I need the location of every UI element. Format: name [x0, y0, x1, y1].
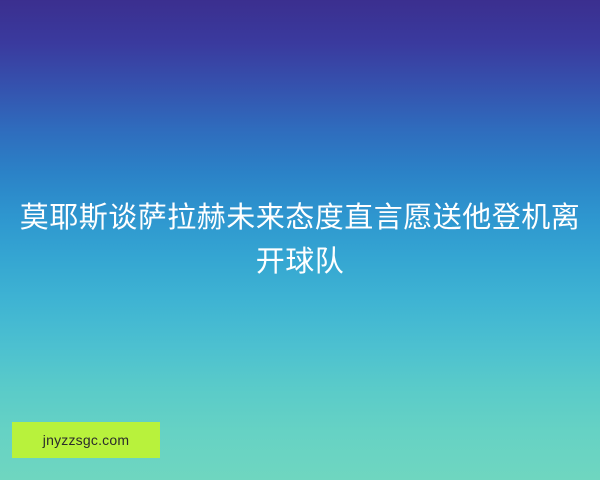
headline-text: 莫耶斯谈萨拉赫未来态度直言愿送他登机离开球队 — [0, 196, 600, 284]
banner-image: 莫耶斯谈萨拉赫未来态度直言愿送他登机离开球队 jnyzzsgc.com — [0, 0, 600, 480]
watermark-badge: jnyzzsgc.com — [12, 422, 160, 458]
watermark-label: jnyzzsgc.com — [43, 432, 129, 448]
